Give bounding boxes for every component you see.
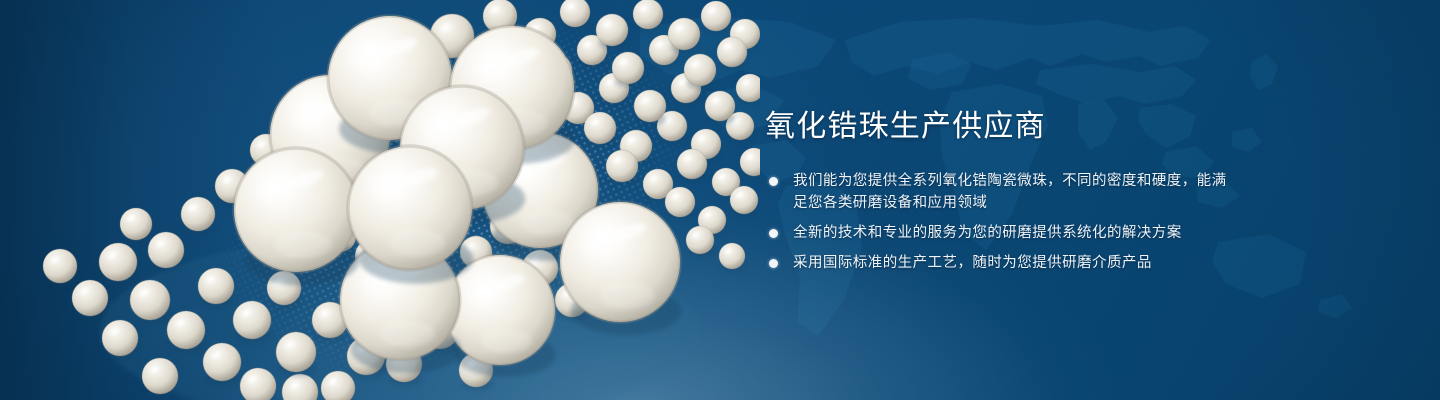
list-item-label: 采用国际标准的生产工艺，随时为您提供研磨介质产品	[793, 255, 1152, 271]
zirconia-ceramic-beads-photo-icon	[0, 0, 760, 400]
filled-circle-icon	[769, 229, 778, 238]
page-title: 氧化锆珠生产供应商	[765, 110, 1046, 144]
list-item: 采用国际标准的生产工艺，随时为您提供研磨介质产品	[765, 252, 1235, 274]
list-item: 全新的技术和专业的服务为您的研磨提供系统化的解决方案	[765, 222, 1235, 244]
list-item-label: 全新的技术和专业的服务为您的研磨提供系统化的解决方案	[793, 225, 1182, 241]
filled-circle-icon	[769, 177, 778, 186]
feature-list: 我们能为您提供全系列氧化锆陶瓷微珠，不同的密度和硬度，能满足您各类研磨设备和应用…	[765, 170, 1235, 274]
list-item: 我们能为您提供全系列氧化锆陶瓷微珠，不同的密度和硬度，能满足您各类研磨设备和应用…	[765, 170, 1235, 214]
list-item-label: 我们能为您提供全系列氧化锆陶瓷微珠，不同的密度和硬度，能满足您各类研磨设备和应用…	[793, 173, 1227, 211]
banner-copy: 氧化锆珠生产供应商 我们能为您提供全系列氧化锆陶瓷微珠，不同的密度和硬度，能满足…	[765, 0, 1265, 400]
hero-banner: 氧化锆珠生产供应商 我们能为您提供全系列氧化锆陶瓷微珠，不同的密度和硬度，能满足…	[0, 0, 1440, 400]
filled-circle-icon	[769, 259, 778, 268]
